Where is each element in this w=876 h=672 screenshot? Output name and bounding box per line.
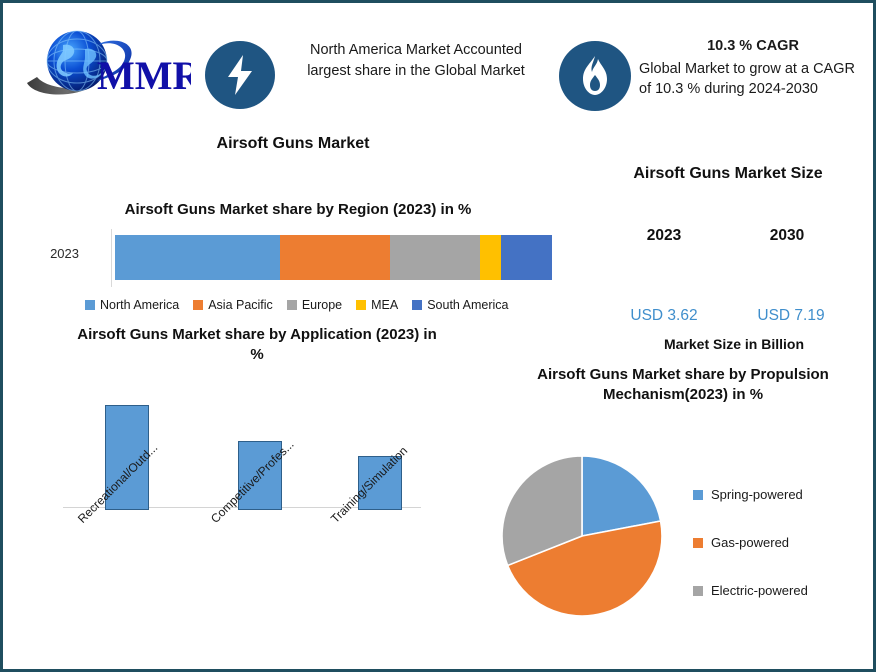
stacked-bar-category-label: 2023 [33, 246, 79, 261]
stacked-bar [115, 235, 552, 280]
stacked-bar-axis [111, 229, 112, 287]
market-size-year-2030: 2030 [742, 227, 832, 245]
propulsion-pie-chart [499, 453, 665, 619]
legend-swatch-icon [356, 300, 366, 310]
legend-item-gas-powered[interactable]: Gas-powered [693, 535, 873, 550]
legend-item-spring-powered[interactable]: Spring-powered [693, 487, 873, 502]
legend-swatch-icon [412, 300, 422, 310]
globe-swoosh-icon: MMR [19, 19, 191, 107]
region-legend: North AmericaAsia PacificEuropeMEASouth … [85, 298, 545, 312]
propulsion-legend: Spring-poweredGas-poweredElectric-powere… [693, 487, 873, 598]
legend-item-electric-powered[interactable]: Electric-powered [693, 583, 873, 598]
legend-label: Gas-powered [711, 535, 789, 550]
stacked-bar-segment-south-america [501, 235, 552, 280]
legend-item-asia-pacific[interactable]: Asia Pacific [193, 298, 273, 312]
legend-label: Europe [302, 298, 342, 312]
legend-label: Spring-powered [711, 487, 803, 502]
legend-swatch-icon [693, 490, 703, 500]
legend-item-europe[interactable]: Europe [287, 298, 342, 312]
region-chart-title: Airsoft Guns Market share by Region (202… [58, 201, 538, 218]
market-size-title: Airsoft Guns Market Size [588, 165, 868, 183]
flame-icon [559, 41, 631, 111]
infographic-page: MMR North America Market Accounted large… [0, 0, 876, 672]
legend-label: North America [100, 298, 179, 312]
svg-text:MMR: MMR [97, 53, 191, 98]
stacked-bar-segment-asia-pacific [280, 235, 390, 280]
lightning-bolt-icon [205, 41, 275, 109]
legend-label: South America [427, 298, 508, 312]
mmr-logo: MMR [19, 19, 191, 107]
bolt-glyph [223, 53, 257, 97]
stacked-bar-segment-mea [480, 235, 501, 280]
region-stacked-bar-chart: 2023 [33, 229, 533, 289]
market-size-value-2030: USD 7.19 [736, 307, 846, 325]
application-chart-title: Airsoft Guns Market share by Application… [71, 325, 443, 365]
legend-item-north-america[interactable]: North America [85, 298, 179, 312]
flame-glyph [579, 55, 611, 97]
legend-swatch-icon [693, 538, 703, 548]
stacked-bar-segment-europe [390, 235, 480, 280]
market-size-value-2023: USD 3.62 [609, 307, 719, 325]
application-bar-chart: Recreational/Outd...Competitive/Profes..… [43, 388, 433, 513]
market-size-year-2023: 2023 [619, 227, 709, 245]
legend-swatch-icon [193, 300, 203, 310]
legend-swatch-icon [693, 586, 703, 596]
legend-label: Electric-powered [711, 583, 808, 598]
legend-swatch-icon [85, 300, 95, 310]
stacked-bar-segment-north-america [115, 235, 280, 280]
legend-item-south-america[interactable]: South America [412, 298, 508, 312]
legend-item-mea[interactable]: MEA [356, 298, 398, 312]
cagr-body: Global Market to grow at a CAGR of 10.3 … [639, 59, 867, 100]
legend-label: MEA [371, 298, 398, 312]
legend-swatch-icon [287, 300, 297, 310]
legend-label: Asia Pacific [208, 298, 273, 312]
page-title: Airsoft Guns Market [113, 135, 473, 153]
market-size-caption: Market Size in Billion [609, 336, 859, 352]
north-america-note: North America Market Accounted largest s… [287, 40, 545, 81]
cagr-headline: 10.3 % CAGR [639, 36, 867, 57]
propulsion-chart-title: Airsoft Guns Market share by Propulsion … [513, 365, 853, 406]
cagr-note: 10.3 % CAGR Global Market to grow at a C… [639, 36, 867, 100]
